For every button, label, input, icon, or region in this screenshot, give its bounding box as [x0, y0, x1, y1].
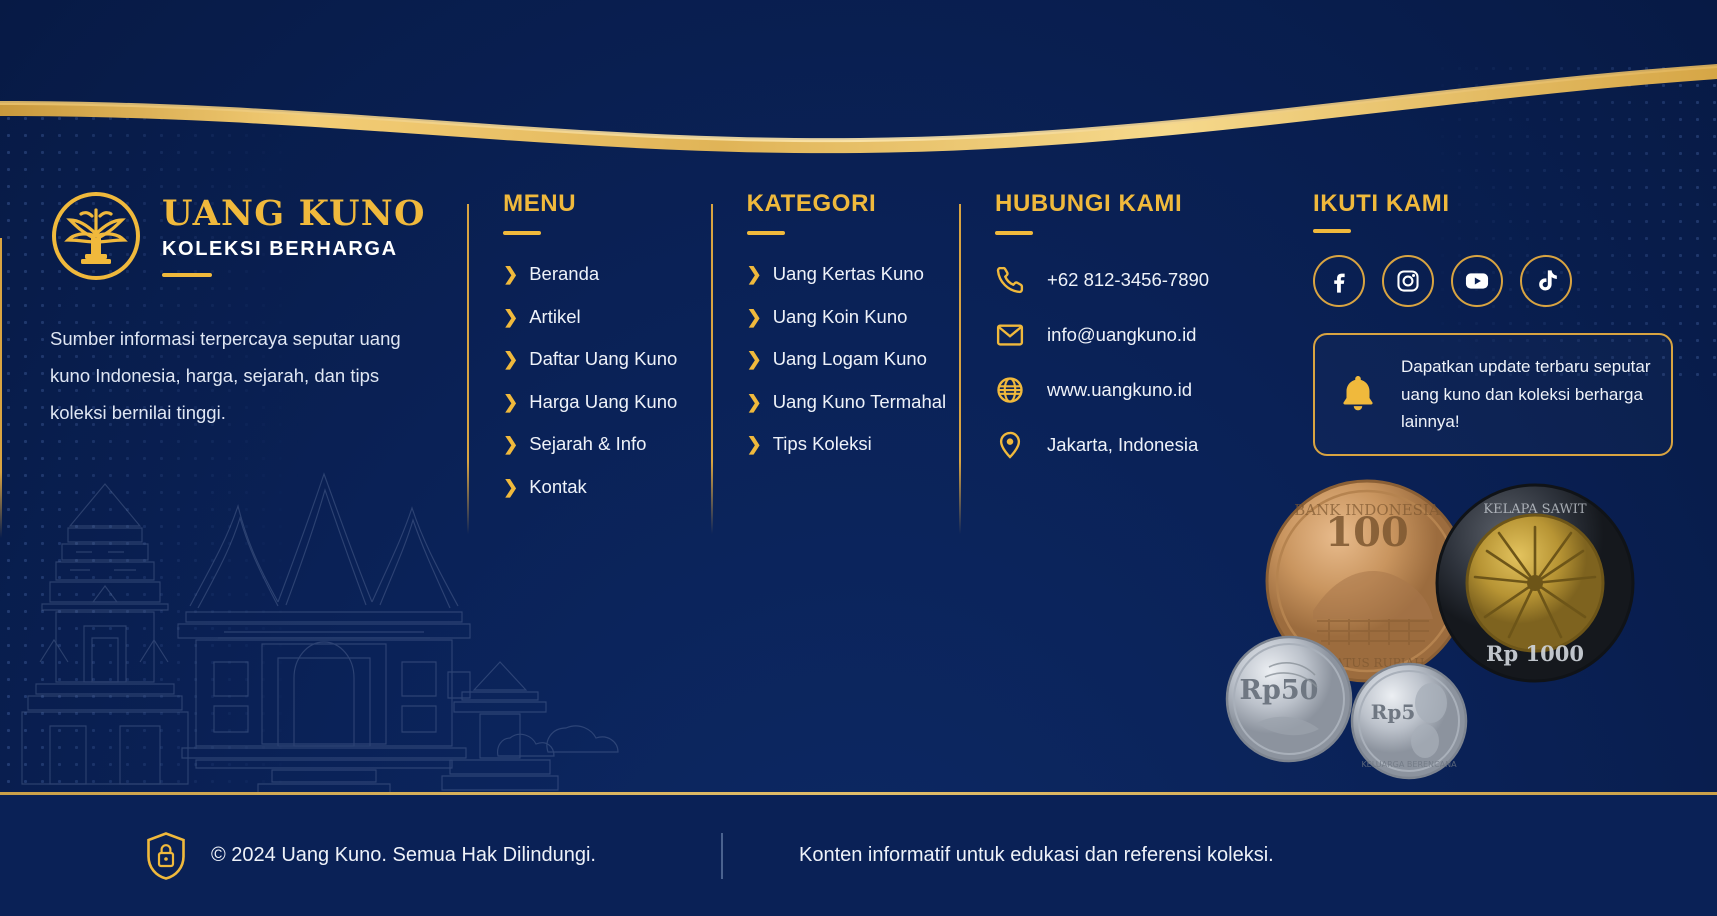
chevron-right-icon: ❯ — [747, 435, 762, 453]
contact-location-label: Jakarta, Indonesia — [1047, 434, 1198, 456]
social-link-tiktok[interactable] — [1520, 255, 1572, 307]
menu-item-harga-uang-kuno[interactable]: ❯ Harga Uang Kuno — [503, 391, 710, 413]
social-heading-underline — [1313, 229, 1351, 233]
bottom-bar: © 2024 Uang Kuno. Semua Hak Dilindungi. … — [0, 795, 1717, 916]
menu-item-kontak[interactable]: ❯ Kontak — [503, 476, 710, 498]
menu-item-label: Sejarah & Info — [529, 433, 646, 455]
social-heading: IKUTI KAMI — [1313, 190, 1667, 218]
contact-item-website[interactable]: www.uangkuno.id — [995, 375, 1277, 405]
chevron-right-icon: ❯ — [503, 350, 518, 368]
menu-item-daftar-uang-kuno[interactable]: ❯ Daftar Uang Kuno — [503, 348, 710, 370]
menu-item-label: Kontak — [529, 476, 587, 498]
svg-text:Rp 1000: Rp 1000 — [1486, 641, 1584, 666]
kategori-heading-underline — [747, 231, 785, 235]
chevron-right-icon: ❯ — [747, 393, 762, 411]
chevron-right-icon: ❯ — [747, 308, 762, 326]
menu-heading: MENU — [503, 190, 710, 218]
palm-tree-in-circle-icon — [50, 190, 142, 282]
menu-item-artikel[interactable]: ❯ Artikel — [503, 306, 710, 328]
kategori-heading: KATEGORI — [747, 190, 959, 218]
contact-item-phone[interactable]: +62 812-3456-7890 — [995, 265, 1277, 295]
chevron-right-icon: ❯ — [747, 265, 762, 283]
kategori-item-uang-kuno-termahal[interactable]: ❯ Uang Kuno Termahal — [747, 391, 959, 413]
bottom-note: Konten informatif untuk edukasi dan refe… — [799, 844, 1274, 867]
brand-column: UANG KUNO KOLEKSI BERHARGA Sumber inform… — [50, 190, 467, 518]
footer-main-columns: UANG KUNO KOLEKSI BERHARGA Sumber inform… — [0, 190, 1717, 518]
phone-icon — [995, 265, 1025, 295]
kategori-item-tips-koleksi[interactable]: ❯ Tips Koleksi — [747, 433, 959, 455]
kategori-list: ❯ Uang Kertas Kuno ❯ Uang Koin Kuno ❯ Ua… — [747, 263, 959, 455]
tiktok-icon — [1533, 268, 1559, 294]
social-link-facebook[interactable] — [1313, 255, 1365, 307]
contact-heading-underline — [995, 231, 1033, 235]
brand-subtitle: KOLEKSI BERHARGA — [162, 238, 426, 261]
chevron-right-icon: ❯ — [503, 393, 518, 411]
contact-item-location[interactable]: Jakarta, Indonesia — [995, 430, 1277, 460]
kategori-column: KATEGORI ❯ Uang Kertas Kuno ❯ Uang Koin … — [711, 190, 959, 518]
svg-text:Rp5: Rp5 — [1371, 700, 1416, 724]
kategori-item-label: Uang Koin Kuno — [773, 306, 908, 328]
brand-description: Sumber informasi terpercaya seputar uang… — [50, 320, 420, 431]
shield-lock-icon — [145, 831, 187, 881]
menu-list: ❯ Beranda ❯ Artikel ❯ Daftar Uang Kuno ❯… — [503, 263, 710, 498]
kategori-item-label: Uang Logam Kuno — [773, 348, 927, 370]
menu-item-label: Artikel — [529, 306, 580, 328]
copyright-text: © 2024 Uang Kuno. Semua Hak Dilindungi. — [211, 844, 596, 867]
copyright-group: © 2024 Uang Kuno. Semua Hak Dilindungi. — [145, 831, 596, 881]
svg-text:KELUARGA BERENCANA: KELUARGA BERENCANA — [1361, 760, 1457, 769]
facebook-icon — [1326, 268, 1352, 294]
menu-column: MENU ❯ Beranda ❯ Artikel ❯ Daftar Uang K… — [467, 190, 710, 518]
menu-item-label: Harga Uang Kuno — [529, 391, 677, 413]
coin-50: Rp50 — [1227, 637, 1351, 761]
brand-underline — [162, 273, 212, 277]
contact-item-email[interactable]: info@uangkuno.id — [995, 320, 1277, 350]
instagram-icon — [1395, 268, 1421, 294]
kategori-item-uang-koin-kuno[interactable]: ❯ Uang Koin Kuno — [747, 306, 959, 328]
globe-icon — [995, 375, 1025, 405]
social-column: IKUTI KAMI — [1277, 190, 1667, 518]
chevron-right-icon: ❯ — [503, 265, 518, 283]
bottom-separator — [721, 833, 723, 879]
youtube-icon — [1464, 268, 1490, 294]
brand-text: UANG KUNO KOLEKSI BERHARGA — [162, 196, 426, 277]
kategori-item-uang-logam-kuno[interactable]: ❯ Uang Logam Kuno — [747, 348, 959, 370]
coin-5: Rp5 KELUARGA BERENCANA — [1352, 664, 1466, 778]
newsletter-box[interactable]: Dapatkan update terbaru seputar uang kun… — [1313, 333, 1673, 456]
kategori-item-uang-kertas-kuno[interactable]: ❯ Uang Kertas Kuno — [747, 263, 959, 285]
gold-wave-divider-icon — [0, 0, 1717, 200]
brand-row: UANG KUNO KOLEKSI BERHARGA — [50, 190, 447, 282]
menu-item-label: Daftar Uang Kuno — [529, 348, 677, 370]
menu-item-beranda[interactable]: ❯ Beranda — [503, 263, 710, 285]
chevron-right-icon: ❯ — [503, 435, 518, 453]
bell-icon — [1335, 371, 1381, 417]
social-link-youtube[interactable] — [1451, 255, 1503, 307]
kategori-item-label: Uang Kuno Termahal — [773, 391, 946, 413]
menu-item-sejarah-info[interactable]: ❯ Sejarah & Info — [503, 433, 710, 455]
brand-title: UANG KUNO — [162, 196, 426, 231]
newsletter-text: Dapatkan update terbaru seputar uang kun… — [1401, 353, 1651, 436]
map-pin-icon — [995, 430, 1025, 460]
contact-website-label: www.uangkuno.id — [1047, 379, 1192, 401]
contact-phone-label: +62 812-3456-7890 — [1047, 269, 1209, 291]
kategori-item-label: Tips Koleksi — [773, 433, 872, 455]
chevron-right-icon: ❯ — [747, 350, 762, 368]
chevron-right-icon: ❯ — [503, 478, 518, 496]
social-links — [1313, 255, 1667, 307]
kategori-item-label: Uang Kertas Kuno — [773, 263, 924, 285]
contact-heading: HUBUNGI KAMI — [995, 190, 1277, 218]
envelope-icon — [995, 320, 1025, 350]
contact-column: HUBUNGI KAMI +62 812-3456-7890 info@uang… — [959, 190, 1277, 518]
social-link-instagram[interactable] — [1382, 255, 1434, 307]
contact-list: +62 812-3456-7890 info@uangkuno.id www.u… — [995, 265, 1277, 460]
menu-item-label: Beranda — [529, 263, 599, 285]
contact-email-label: info@uangkuno.id — [1047, 324, 1196, 346]
menu-heading-underline — [503, 231, 541, 235]
chevron-right-icon: ❯ — [503, 308, 518, 326]
